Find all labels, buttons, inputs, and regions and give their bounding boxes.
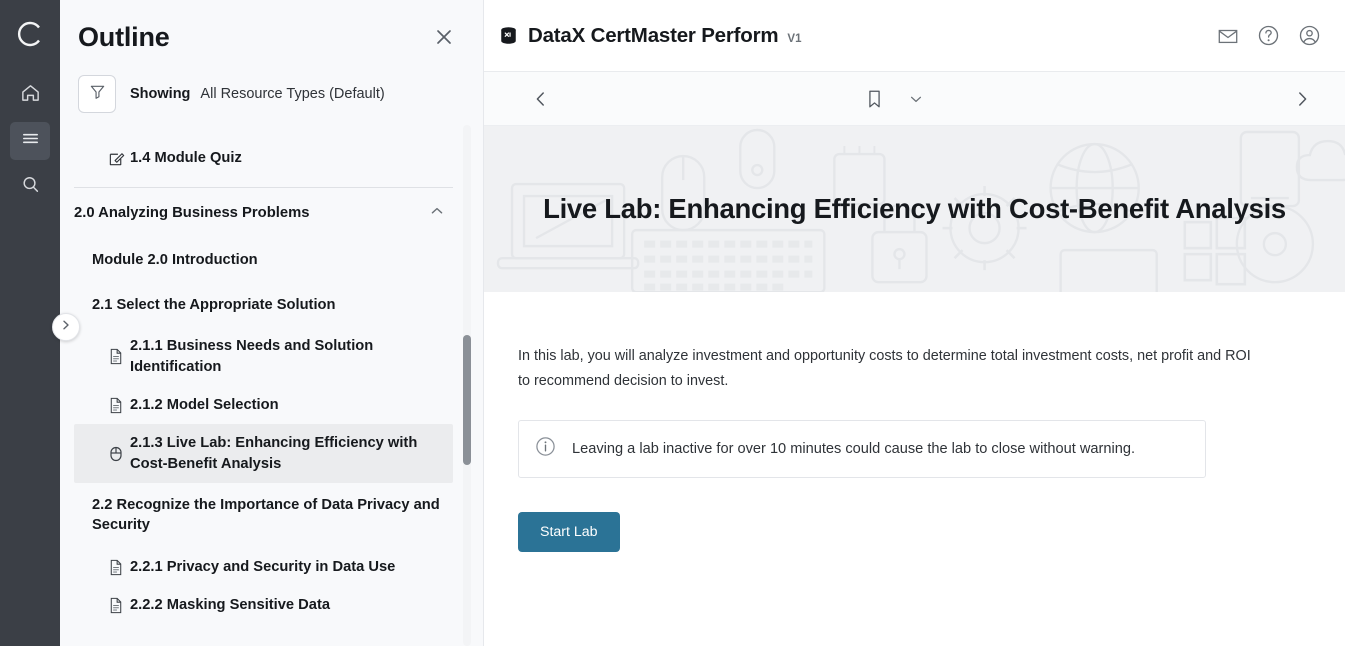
inactivity-notice-text: Leaving a lab inactive for over 10 minut…: [572, 441, 1135, 457]
left-nav-rail: [0, 0, 60, 646]
filter-funnel-icon: [88, 82, 107, 106]
list-item-label: 2.1.3 Live Lab: Enhancing Efficiency wit…: [130, 433, 443, 474]
document-icon: [108, 559, 124, 576]
home-icon: [20, 82, 41, 108]
content-navigation-bar: [484, 72, 1345, 126]
lesson-banner: Live Lab: Enhancing Efficiency with Cost…: [484, 126, 1345, 292]
chevron-left-icon: [532, 95, 550, 112]
list-item[interactable]: 2.2.1 Privacy and Security in Data Use: [74, 548, 453, 586]
list-item-label: 2.1 Select the Appropriate Solution: [92, 297, 335, 313]
outline-list: Environments 1.4 Module Quiz 2.0 Analyzi…: [60, 125, 483, 646]
lesson-title: Live Lab: Enhancing Efficiency with Cost…: [543, 191, 1286, 227]
list-item[interactable]: 2.1.2 Model Selection: [74, 386, 453, 424]
previous-page-button[interactable]: [532, 90, 550, 108]
rail-icon-group: [10, 76, 50, 206]
list-item-selected[interactable]: 2.1.3 Live Lab: Enhancing Efficiency wit…: [74, 424, 453, 483]
scrollbar-thumb[interactable]: [463, 335, 471, 465]
document-icon: [108, 348, 124, 365]
quiz-pencil-icon: [108, 150, 125, 167]
list-item[interactable]: 2.1 Select the Appropriate Solution: [74, 283, 453, 328]
app-header: DataX CertMaster Perform V1: [484, 0, 1345, 72]
list-item[interactable]: Module 2.0 Introduction: [74, 238, 453, 283]
close-icon: [433, 35, 455, 52]
brand: DataX CertMaster Perform V1: [498, 24, 801, 48]
list-item[interactable]: 2.2 Recognize the Importance of Data Pri…: [74, 483, 453, 548]
document-icon: [108, 597, 124, 614]
list-item-label: Module 2.0 Introduction: [92, 252, 258, 268]
outline-header: Outline: [60, 0, 483, 53]
page-title: Outline: [78, 22, 170, 53]
bookmark-dropdown-button[interactable]: [908, 91, 924, 107]
outline-section-label: 2.0 Analyzing Business Problems: [74, 205, 309, 221]
inactivity-notice: Leaving a lab inactive for over 10 minut…: [518, 420, 1206, 478]
app-root: Outline: [0, 0, 1345, 646]
list-item-clipped[interactable]: Environments: [74, 125, 453, 131]
bookmark-icon: [865, 97, 884, 114]
mouse-lab-icon: [108, 445, 124, 463]
document-icon: [108, 397, 124, 414]
mail-envelope-icon[interactable]: [1217, 25, 1239, 47]
list-item-label: 2.2.1 Privacy and Security in Data Use: [130, 557, 395, 577]
chevron-right-icon: [1293, 95, 1311, 112]
header-actions: [1217, 24, 1321, 47]
version-label: V1: [787, 33, 801, 45]
info-circle-icon: [535, 436, 556, 462]
bookmark-button[interactable]: [865, 88, 884, 110]
list-item[interactable]: 2.1.1 Business Needs and Solution Identi…: [74, 327, 453, 386]
list-item-label: 2.2.2 Masking Sensitive Data: [130, 595, 330, 615]
bookmark-group: [865, 88, 964, 110]
user-account-icon[interactable]: [1298, 24, 1321, 47]
filter-label: Showing: [130, 86, 190, 102]
filter-value[interactable]: All Resource Types (Default): [200, 86, 384, 102]
list-item-label: 1.4 Module Quiz: [130, 148, 242, 168]
sidebar-item-search[interactable]: [10, 168, 50, 206]
c-logo-icon[interactable]: [10, 14, 50, 54]
question-circle-icon[interactable]: [1257, 24, 1280, 47]
outline-section-header[interactable]: 2.0 Analyzing Business Problems: [74, 188, 453, 238]
chevron-down-icon: [908, 94, 924, 111]
chevron-right-icon: [60, 318, 72, 336]
sidebar-item-home[interactable]: [10, 76, 50, 114]
search-icon: [20, 174, 41, 200]
close-outline-button[interactable]: [429, 22, 459, 52]
list-item-label: 2.1.1 Business Needs and Solution Identi…: [130, 336, 443, 377]
chevron-up-icon[interactable]: [429, 203, 445, 223]
next-page-button[interactable]: [1293, 90, 1311, 108]
filter-button[interactable]: [78, 75, 116, 113]
lab-body: In this lab, you will analyze investment…: [484, 292, 1345, 646]
list-item-label: 2.2 Recognize the Importance of Data Pri…: [92, 497, 440, 534]
hamburger-menu-icon: [20, 128, 41, 154]
start-lab-button[interactable]: Start Lab: [518, 512, 620, 552]
expand-panel-button[interactable]: [52, 313, 80, 341]
list-item-label: 2.1.2 Model Selection: [130, 395, 279, 415]
sidebar-item-outline[interactable]: [10, 122, 50, 160]
outline-panel: Outline: [60, 0, 484, 646]
lab-description: In this lab, you will analyze investment…: [518, 344, 1260, 394]
database-logo-icon: [498, 25, 519, 46]
list-item[interactable]: 2.2.2 Masking Sensitive Data: [74, 586, 453, 624]
main-content: DataX CertMaster Perform V1: [484, 0, 1345, 646]
product-name: DataX CertMaster Perform: [528, 24, 778, 48]
list-item[interactable]: 1.4 Module Quiz: [74, 139, 453, 177]
filter-row: Showing All Resource Types (Default): [78, 75, 483, 113]
